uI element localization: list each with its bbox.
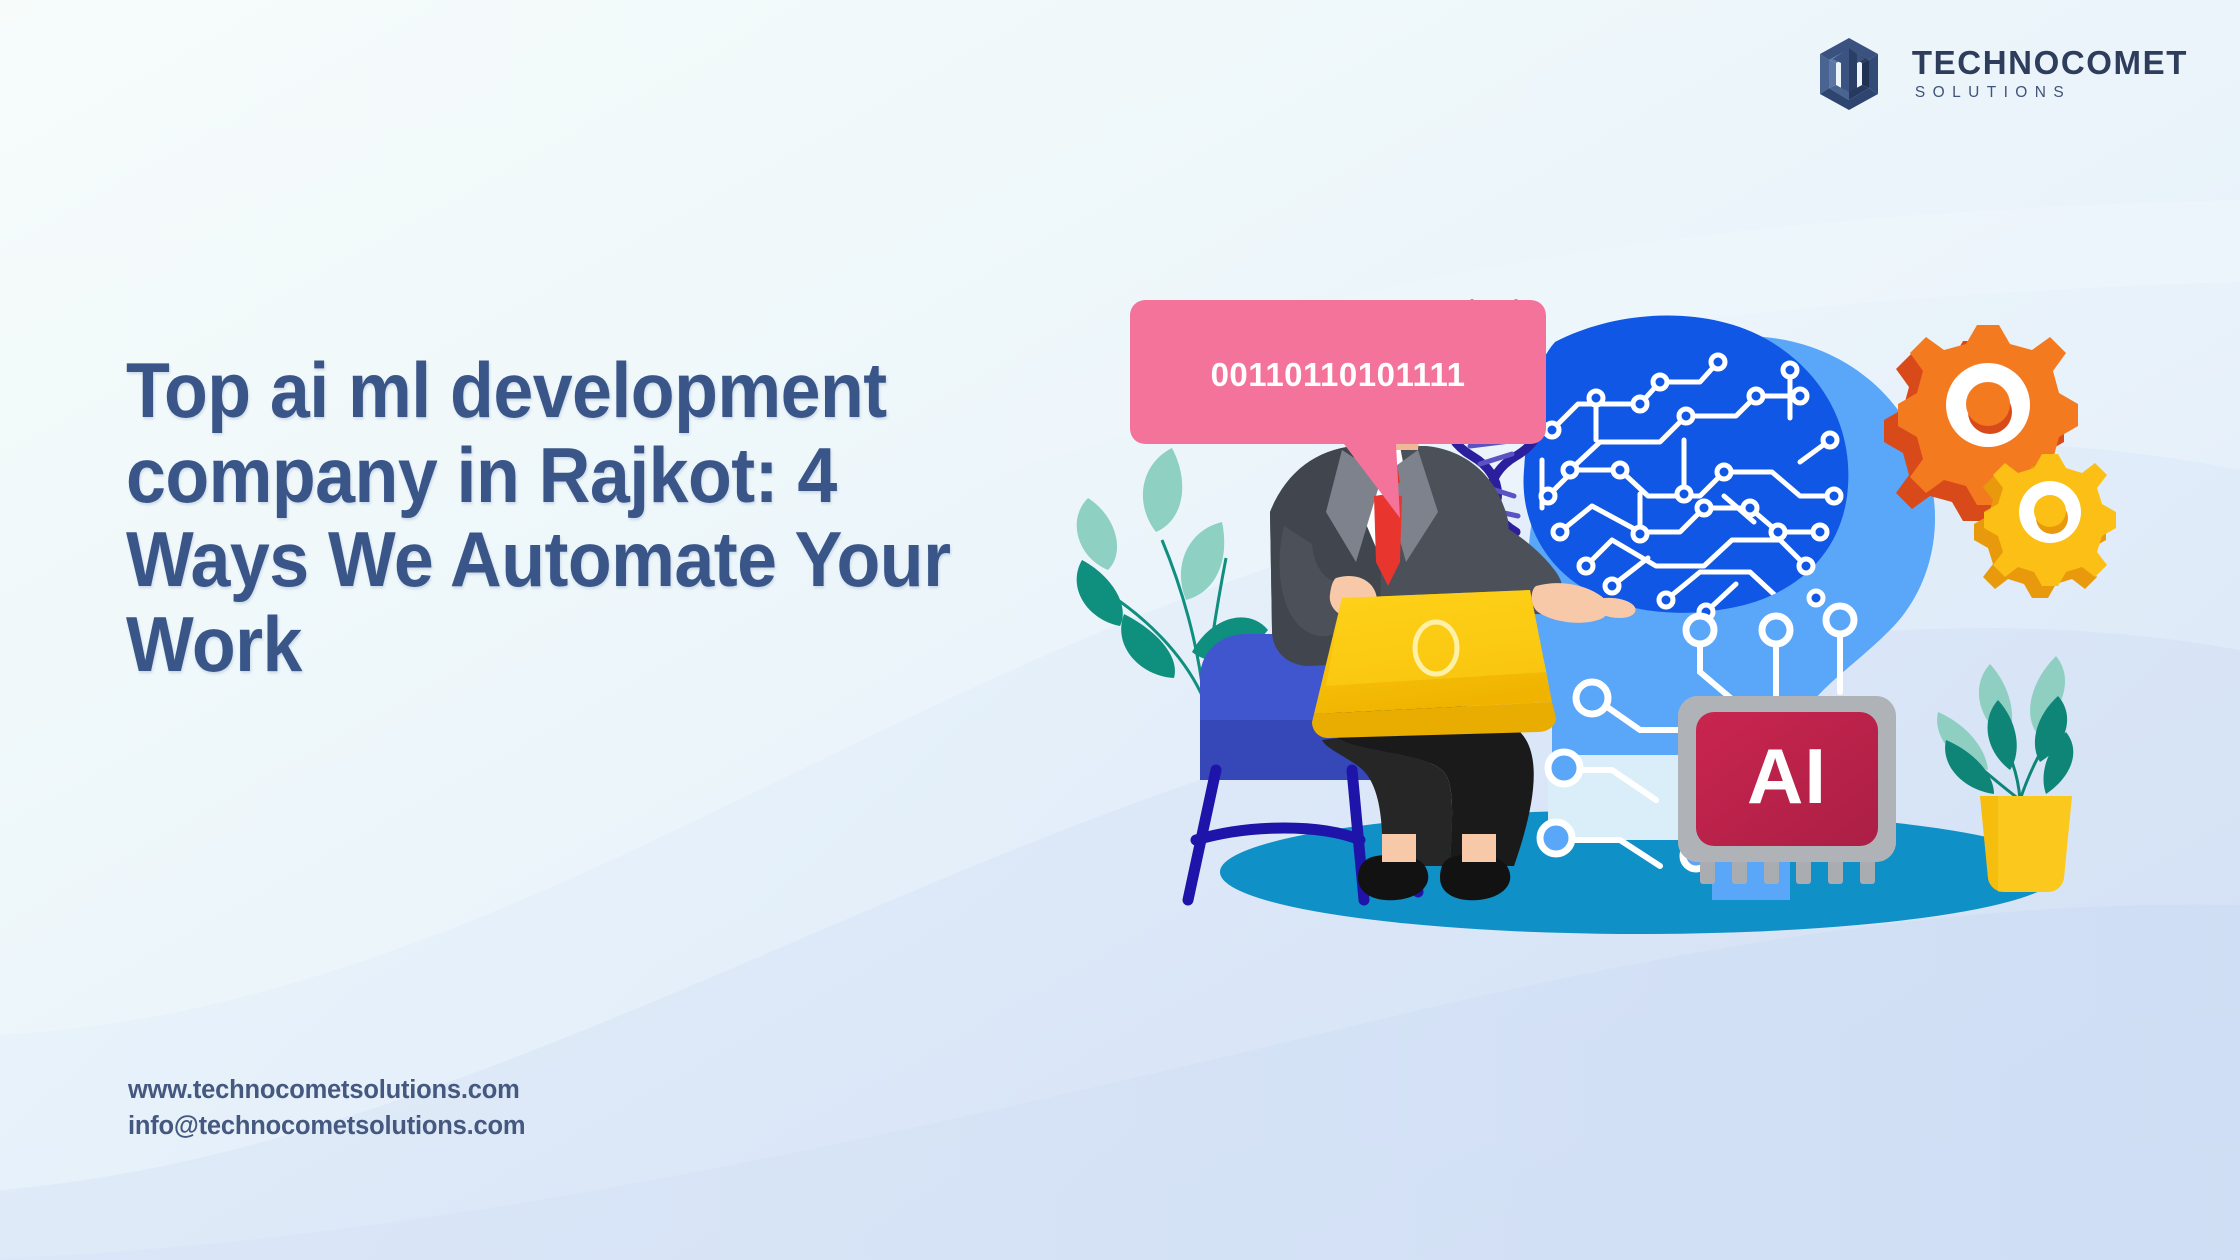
ai-chip-icon: AI — [1678, 696, 1896, 884]
hex-cube-arrow-logo-icon — [1812, 34, 1886, 114]
page-title: Top ai ml development company in Rajkot:… — [126, 348, 954, 687]
logo-company-name: TECHNOCOMET — [1912, 46, 2188, 80]
banner-canvas: TECHNOCOMET SOLUTIONS Top ai ml developm… — [0, 0, 2240, 1260]
ai-illustration: AI — [1100, 300, 2120, 940]
binary-text: 00110110101111 — [1211, 356, 1466, 393]
contact-block: www.technocometsolutions.com info@techno… — [128, 1072, 525, 1144]
gear-icon-small — [1974, 454, 2116, 598]
website-text: www.technocometsolutions.com — [128, 1072, 525, 1108]
chip-label: AI — [1747, 732, 1827, 820]
logo-tagline: SOLUTIONS — [1915, 84, 2071, 102]
brand-logo[interactable]: TECHNOCOMET SOLUTIONS — [1812, 34, 2188, 114]
email-text: info@technocometsolutions.com — [128, 1108, 525, 1144]
logo-wordmark: TECHNOCOMET SOLUTIONS — [1912, 46, 2188, 103]
